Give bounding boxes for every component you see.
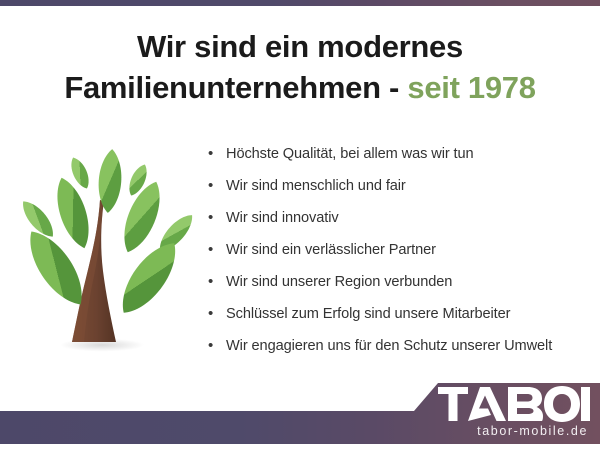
list-item-label: Wir sind ein verlässlicher Partner (226, 236, 436, 264)
value-list: • Höchste Qualität, bei allem was wir tu… (208, 140, 600, 364)
bullet-dot-icon: • (208, 268, 226, 296)
list-item-label: Wir sind menschlich und fair (226, 172, 406, 200)
bullet-dot-icon: • (208, 172, 226, 200)
brand-tagline[interactable]: tabor-mobile.de (410, 424, 590, 438)
tree-icon-svg (14, 145, 194, 360)
list-item: • Wir sind unserer Region verbunden (208, 268, 600, 300)
headline-line-2-prefix: Familienunternehmen - (64, 70, 407, 105)
list-item: • Wir sind ein verlässlicher Partner (208, 236, 600, 268)
bullet-dot-icon: • (208, 236, 226, 264)
list-item: • Schlüssel zum Erfolg sind unsere Mitar… (208, 300, 600, 332)
page-title: Wir sind ein modernes Familienunternehme… (0, 26, 600, 108)
slide-canvas: Wir sind ein modernes Familienunternehme… (0, 0, 600, 450)
tabor-wordmark-svg (438, 385, 590, 425)
list-item-label: Schlüssel zum Erfolg sind unsere Mitarbe… (226, 300, 510, 328)
brand-wordmark (410, 385, 590, 425)
list-item-label: Wir sind innovativ (226, 204, 339, 232)
tree-icon (14, 145, 194, 360)
bullet-dot-icon: • (208, 140, 226, 168)
bullet-dot-icon: • (208, 332, 226, 360)
list-item-label: Wir engagieren uns für den Schutz unsere… (226, 332, 552, 360)
list-item: • Wir engagieren uns für den Schutz unse… (208, 332, 600, 364)
list-item-label: Wir sind unserer Region verbunden (226, 268, 452, 296)
top-accent-bar (0, 0, 600, 6)
list-item: • Wir sind innovativ (208, 204, 600, 236)
list-item: • Höchste Qualität, bei allem was wir tu… (208, 140, 600, 172)
headline-line-2: Familienunternehmen - seit 1978 (0, 67, 600, 108)
headline-line-1: Wir sind ein modernes (0, 26, 600, 67)
bullet-dot-icon: • (208, 204, 226, 232)
list-item-label: Höchste Qualität, bei allem was wir tun (226, 140, 474, 168)
bullet-dot-icon: • (208, 300, 226, 328)
brand-logo[interactable]: tabor-mobile.de (410, 385, 590, 438)
headline-accent-year: seit 1978 (407, 70, 535, 105)
list-item: • Wir sind menschlich und fair (208, 172, 600, 204)
